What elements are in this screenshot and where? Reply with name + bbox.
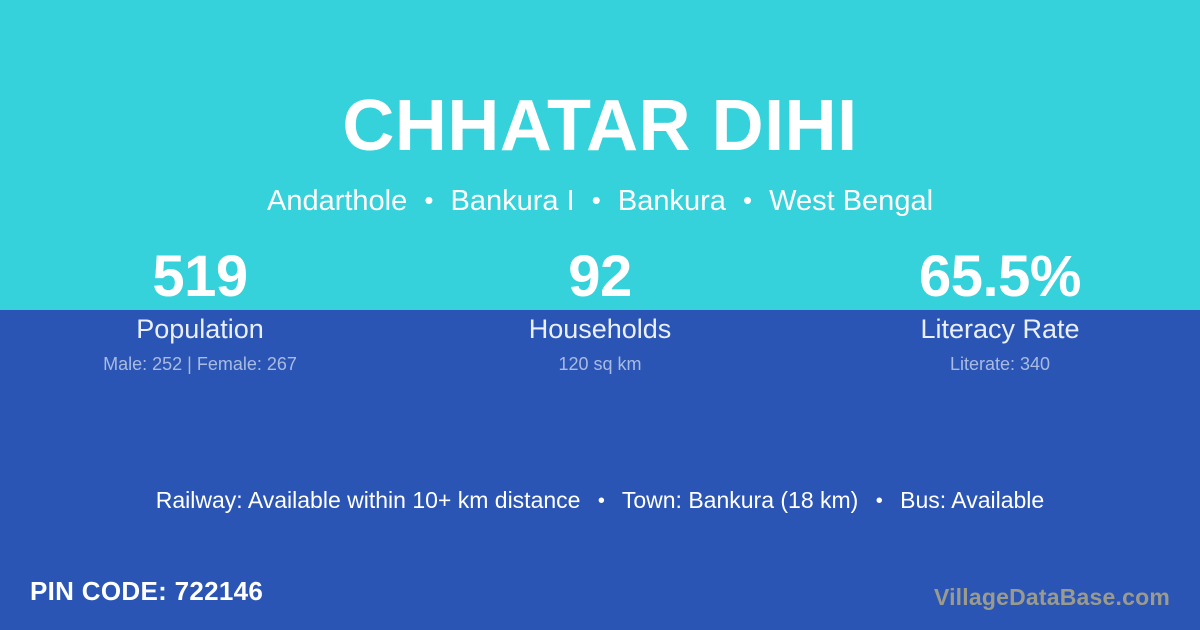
amenity-separator-icon: • (587, 490, 616, 512)
pin-code: PIN CODE: 722146 (30, 574, 263, 608)
stat-sublabel: Literate: 340 (800, 352, 1200, 376)
breadcrumb-separator-icon: • (583, 185, 610, 215)
stat-value: 65.5% (800, 243, 1200, 311)
stat-literacy-rate: 65.5% Literacy Rate Literate: 340 (800, 243, 1200, 376)
amenity-railway: Railway: Available within 10+ km distanc… (156, 487, 581, 513)
breadcrumb-item-district: Bankura (618, 185, 726, 217)
amenity-separator-icon: • (865, 490, 894, 512)
stat-value: 92 (400, 243, 800, 311)
amenities-line: Railway: Available within 10+ km distanc… (0, 484, 1200, 517)
stat-population: 519 Population Male: 252 | Female: 267 (0, 243, 400, 376)
stat-sublabel: 120 sq km (400, 352, 800, 376)
breadcrumb: Andarthole • Bankura I • Bankura • West … (0, 181, 1200, 220)
breadcrumb-item-panchayat: Andarthole (267, 185, 407, 217)
breadcrumb-item-state: West Bengal (769, 185, 933, 217)
stat-label: Households (400, 312, 800, 346)
stat-label: Population (0, 312, 400, 346)
stat-sublabel: Male: 252 | Female: 267 (0, 352, 400, 376)
amenity-town: Town: Bankura (18 km) (622, 487, 858, 513)
breadcrumb-separator-icon: • (734, 185, 761, 215)
page-title: CHHATAR DIHI (0, 83, 1200, 169)
breadcrumb-separator-icon: • (415, 185, 442, 215)
stat-households: 92 Households 120 sq km (400, 243, 800, 376)
stat-label: Literacy Rate (800, 312, 1200, 346)
amenity-bus: Bus: Available (900, 487, 1044, 513)
village-info-card: CHHATAR DIHI Andarthole • Bankura I • Ba… (0, 0, 1200, 630)
site-brand-watermark: VillageDataBase.com (934, 582, 1170, 612)
stat-value: 519 (0, 243, 400, 311)
stats-row: 519 Population Male: 252 | Female: 267 9… (0, 243, 1200, 376)
breadcrumb-item-block: Bankura I (451, 185, 575, 217)
